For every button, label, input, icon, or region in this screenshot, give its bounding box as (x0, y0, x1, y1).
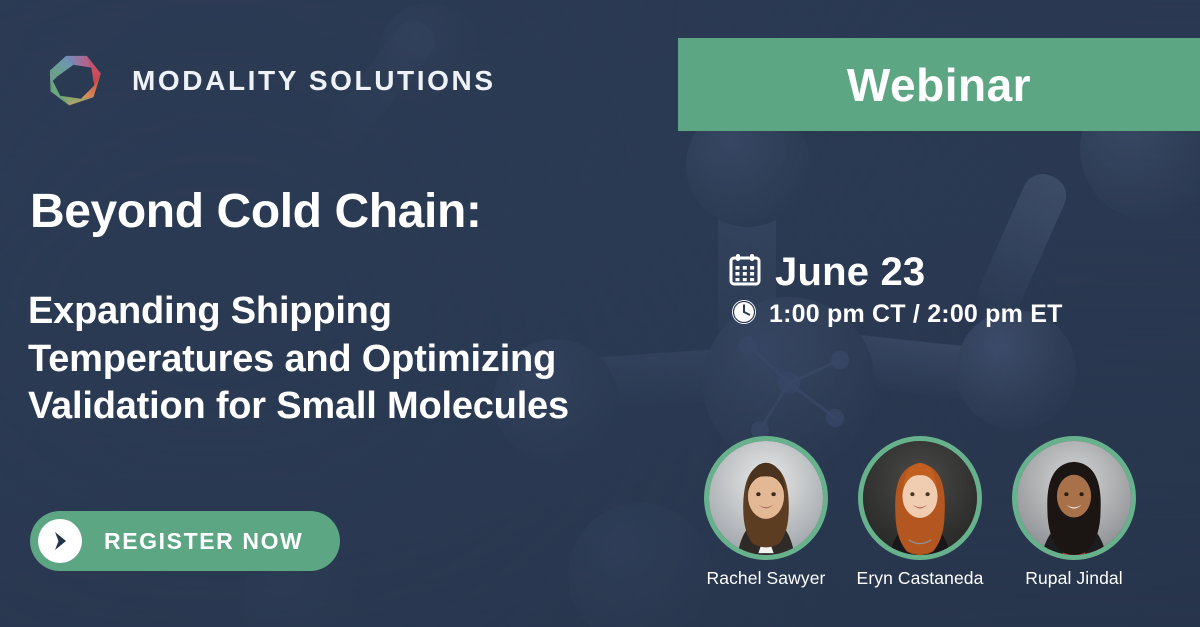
clock-icon (731, 299, 757, 330)
brand-name: MODALITY SOLUTIONS (132, 65, 496, 97)
page-title: Beyond Cold Chain: (30, 186, 481, 239)
schedule-time-row: 1:00 pm CT / 2:00 pm ET (731, 299, 1063, 330)
register-now-label: REGISTER NOW (104, 528, 303, 555)
speakers-list: Rachel Sawyer (697, 436, 1143, 589)
speaker-name: Rachel Sawyer (707, 568, 826, 589)
speaker-card: Rachel Sawyer (697, 436, 835, 589)
schedule-date: June 23 (775, 250, 925, 295)
hexagon-ring-logo-icon (38, 44, 112, 118)
speaker-card: Rupal Jindal (1005, 436, 1143, 589)
speaker-name: Eryn Castaneda (857, 568, 984, 589)
avatar (1012, 436, 1136, 560)
page-subtitle: Expanding Shipping Temperatures and Opti… (28, 288, 648, 431)
avatar (858, 436, 982, 560)
schedule-block: June 23 1:00 pm CT / 2:00 pm ET (729, 250, 1063, 330)
avatar (704, 436, 828, 560)
webinar-banner-label: Webinar (847, 58, 1031, 112)
chevron-right-icon (38, 519, 82, 563)
brand-logo: MODALITY SOLUTIONS (38, 44, 496, 118)
schedule-time: 1:00 pm CT / 2:00 pm ET (769, 300, 1063, 329)
register-now-button[interactable]: REGISTER NOW (30, 511, 340, 571)
schedule-date-row: June 23 (729, 250, 1063, 295)
webinar-banner: Webinar (678, 38, 1200, 131)
calendar-icon (729, 253, 761, 292)
webinar-promo-poster: MODALITY SOLUTIONS Webinar Beyond Cold C… (0, 0, 1200, 627)
speaker-card: Eryn Castaneda (851, 436, 989, 589)
speaker-name: Rupal Jindal (1025, 568, 1123, 589)
